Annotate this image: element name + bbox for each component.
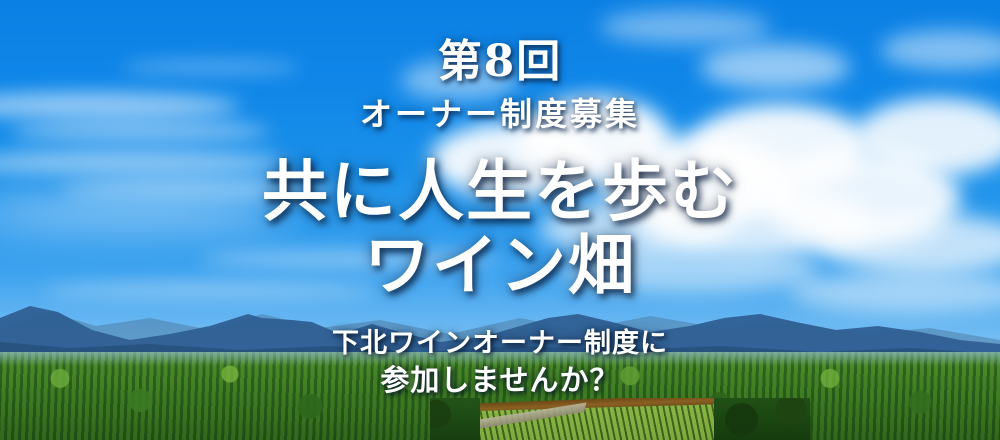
program-label: オーナー制度募集: [0, 98, 1000, 130]
tagline-line-2: 参加しませんか？: [0, 366, 1000, 395]
hero-banner: 第8回 オーナー制度募集 共に人生を歩む ワイン畑 下北ワインオーナー制度に 参…: [0, 0, 1000, 440]
headline-line-2: ワイン畑: [0, 232, 1000, 298]
tagline-line-1: 下北ワインオーナー制度に: [0, 330, 1000, 357]
banner-text-layer: 第8回 オーナー制度募集 共に人生を歩む ワイン畑 下北ワインオーナー制度に 参…: [0, 0, 1000, 440]
edition-label: 第8回: [0, 40, 1000, 84]
headline-line-1: 共に人生を歩む: [0, 158, 1000, 224]
